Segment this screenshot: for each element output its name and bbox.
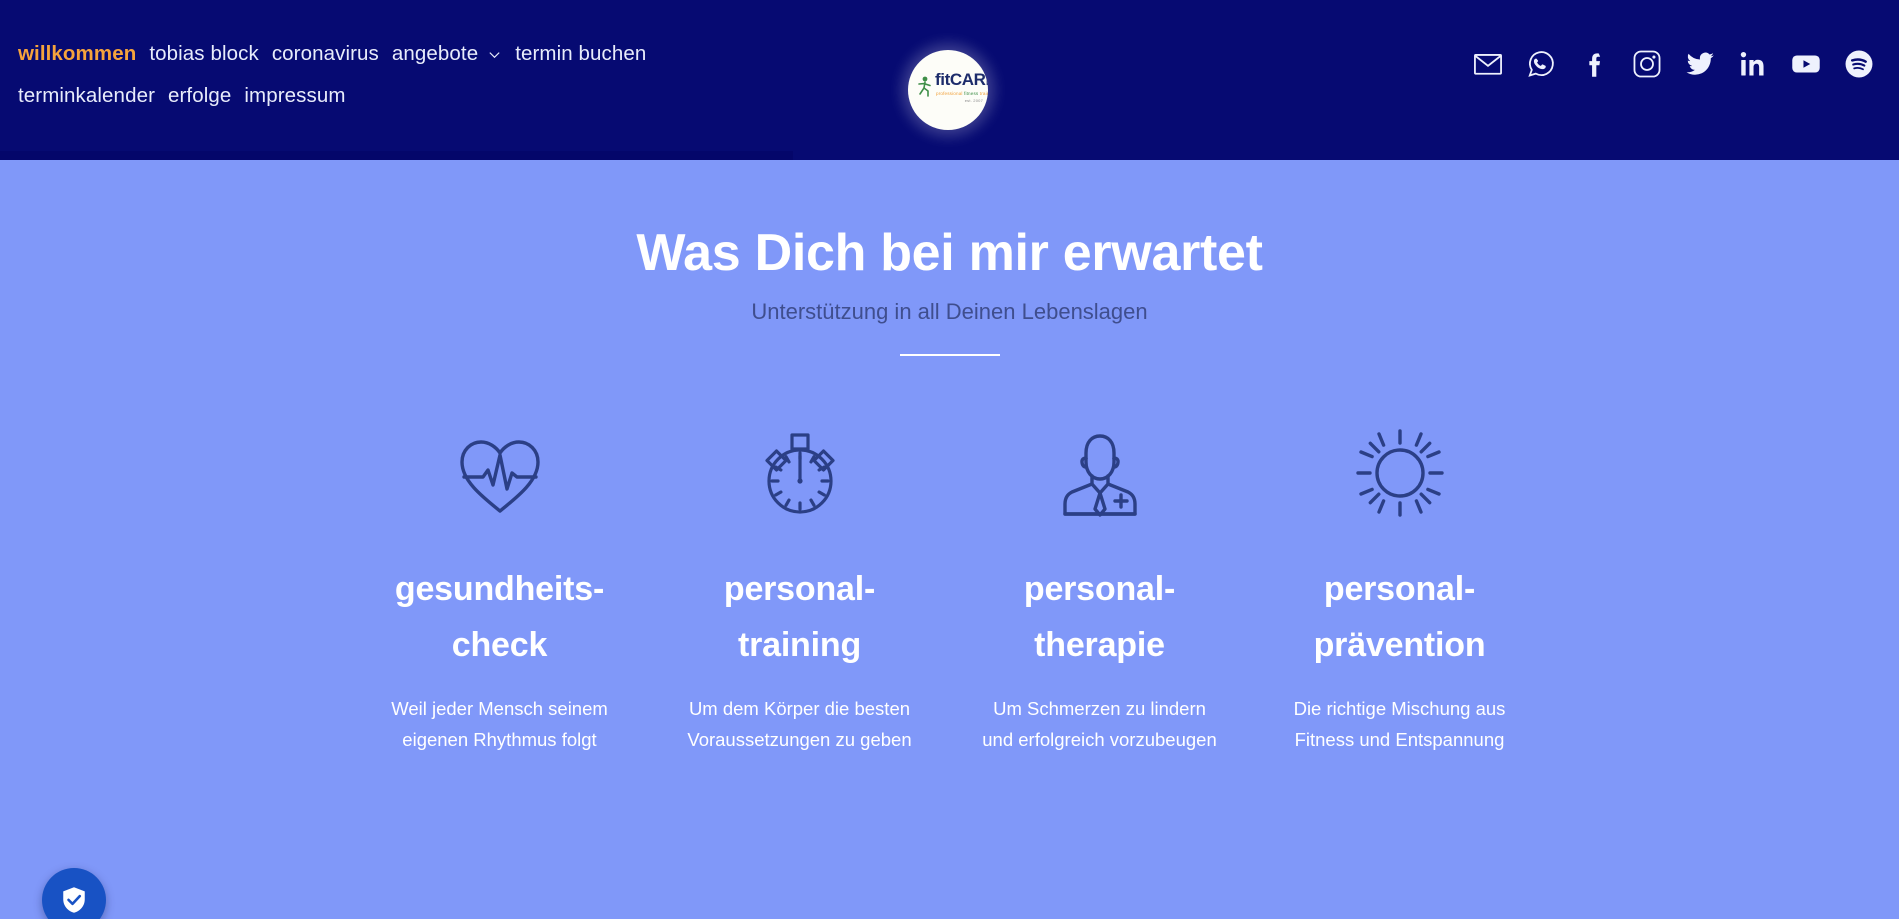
card-title-line2: check — [452, 626, 547, 664]
facebook-icon[interactable] — [1578, 48, 1610, 80]
logo-tagline-fitness: fitness — [964, 91, 978, 96]
card-title-line1: personal- — [1324, 570, 1475, 608]
stopwatch-icon — [750, 423, 850, 523]
card-desc-line2: Voraussetzungen zu geben — [687, 729, 911, 750]
sun-icon — [1350, 423, 1450, 523]
logo-tagline: professional fitness training — [936, 91, 988, 96]
card-title: personal- prävention — [1314, 561, 1486, 673]
card-personal-praevention[interactable]: personal- prävention Die richtige Mischu… — [1250, 408, 1550, 755]
youtube-icon[interactable] — [1790, 48, 1822, 80]
logo-graphic: fitCARE professional fitness training es… — [911, 67, 985, 113]
nav-item-termin-buchen[interactable]: termin buchen — [515, 36, 646, 72]
logo-fit: fit — [935, 70, 950, 89]
card-title-line2: prävention — [1314, 626, 1486, 664]
card-desc-line1: Die richtige Mischung aus — [1294, 698, 1506, 719]
linkedin-icon[interactable] — [1737, 48, 1769, 80]
logo-tagline-training: training — [980, 91, 988, 96]
card-desc-line1: Um dem Körper die besten — [689, 698, 910, 719]
nav-item-willkommen[interactable]: willkommen — [18, 36, 136, 72]
card-personal-training[interactable]: personal- training Um dem Körper die bes… — [650, 408, 950, 755]
chevron-down-icon[interactable] — [487, 47, 502, 62]
title-divider — [900, 354, 1000, 356]
heart-pulse-icon — [450, 423, 550, 523]
card-description: Um dem Körper die besten Voraussetzungen… — [687, 693, 911, 755]
card-desc-line2: und erfolgreich vorzubeugen — [982, 729, 1217, 750]
logo-tagline-professional: professional — [936, 91, 963, 96]
logo-wordmark: fitCARE — [935, 70, 988, 90]
nav-item-angebote[interactable]: angebote — [392, 36, 478, 72]
card-personal-therapie[interactable]: personal- therapie Um Schmerzen zu linde… — [950, 408, 1250, 755]
consent-widget-button[interactable] — [42, 868, 106, 919]
hero-section: Was Dich bei mir erwartet Unterstützung … — [0, 222, 1899, 919]
page-subtitle: Unterstützung in all Deinen Lebenslagen — [0, 297, 1899, 327]
running-figure-icon — [915, 75, 935, 99]
card-description: Um Schmerzen zu lindern und erfolgreich … — [982, 693, 1217, 755]
site-header: willkommen tobias block coronavirus ange… — [0, 0, 1899, 160]
social-links — [1472, 48, 1875, 80]
card-desc-line2: Fitness und Entspannung — [1295, 729, 1505, 750]
card-title-line1: gesundheits- — [395, 570, 604, 608]
page-title: Was Dich bei mir erwartet — [0, 222, 1899, 284]
whatsapp-icon[interactable] — [1525, 48, 1557, 80]
nav-item-terminkalender[interactable]: terminkalender — [18, 78, 155, 114]
twitter-icon[interactable] — [1684, 48, 1716, 80]
card-icon-wrapper — [450, 408, 550, 538]
nav-item-tobias-block[interactable]: tobias block — [149, 36, 258, 72]
card-title-line2: therapie — [1034, 626, 1165, 664]
card-description: Die richtige Mischung aus Fitness und En… — [1294, 693, 1506, 755]
service-cards: gesundheits- check Weil jeder Mensch sei… — [0, 408, 1899, 755]
card-icon-wrapper — [1350, 408, 1450, 538]
spotify-icon[interactable] — [1843, 48, 1875, 80]
nav-item-coronavirus[interactable]: coronavirus — [272, 36, 379, 72]
card-description: Weil jeder Mensch seinem eigenen Rhythmu… — [391, 693, 608, 755]
main-navigation: willkommen tobias block coronavirus ange… — [18, 36, 778, 114]
nav-item-impressum[interactable]: impressum — [244, 78, 345, 114]
site-logo[interactable]: fitCARE professional fitness training es… — [908, 50, 988, 130]
logo-established: est. 2007 — [965, 98, 983, 103]
card-desc-line2: eigenen Rhythmus folgt — [402, 729, 596, 750]
card-icon-wrapper — [750, 408, 850, 538]
card-gesundheits-check[interactable]: gesundheits- check Weil jeder Mensch sei… — [350, 408, 650, 755]
card-title: personal- therapie — [1024, 561, 1175, 673]
card-title-line1: personal- — [1024, 570, 1175, 608]
instagram-icon[interactable] — [1631, 48, 1663, 80]
card-desc-line1: Um Schmerzen zu lindern — [993, 698, 1206, 719]
card-title-line2: training — [738, 626, 861, 664]
card-title: personal- training — [724, 561, 875, 673]
doctor-icon — [1050, 423, 1150, 523]
card-title-line1: personal- — [724, 570, 875, 608]
nav-item-erfolge[interactable]: erfolge — [168, 78, 231, 114]
card-desc-line1: Weil jeder Mensch seinem — [391, 698, 608, 719]
nav-item-angebote-group[interactable]: angebote — [392, 36, 502, 72]
card-icon-wrapper — [1050, 408, 1150, 538]
scroll-progress-bar — [0, 151, 793, 160]
email-icon[interactable] — [1472, 48, 1504, 80]
shield-check-icon[interactable] — [59, 885, 89, 915]
card-title: gesundheits- check — [395, 561, 604, 673]
logo-care: CARE — [950, 70, 988, 89]
